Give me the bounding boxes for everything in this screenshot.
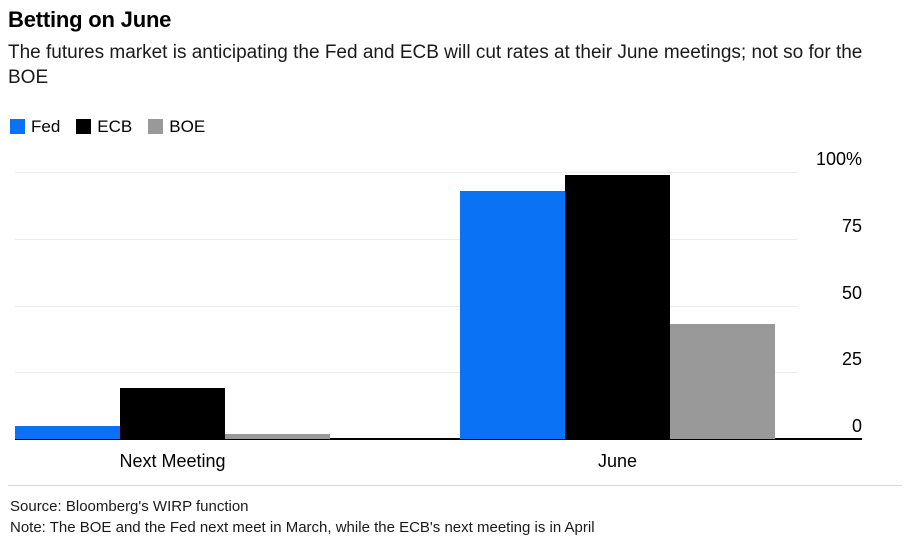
bar-ecb-june[interactable] <box>565 175 670 439</box>
x-axis-tick-label: June <box>460 450 775 472</box>
chart-footer: Source: Bloomberg's WIRP function Note: … <box>10 496 890 538</box>
x-axis-tick-label: Next Meeting <box>15 450 330 472</box>
bar-groups <box>15 172 797 439</box>
y-axis-tick-label: 25 <box>842 350 862 368</box>
legend-item-fed[interactable]: Fed <box>10 118 60 135</box>
y-axis-tick-label: 50 <box>842 284 862 302</box>
chart-legend: FedECBBOE <box>10 118 205 135</box>
chart-subtitle: The futures market is anticipating the F… <box>8 40 868 90</box>
plot-area <box>15 172 797 439</box>
y-axis-tick-label: 75 <box>842 217 862 235</box>
legend-item-ecb[interactable]: ECB <box>76 118 132 135</box>
footer-divider <box>8 485 902 486</box>
bar-fed-june[interactable] <box>460 191 565 439</box>
bar-fed-next-meeting[interactable] <box>15 426 120 439</box>
y-axis-tick-label: 0 <box>852 417 862 435</box>
legend-swatch-icon <box>10 119 25 134</box>
bar-ecb-next-meeting[interactable] <box>120 388 225 439</box>
legend-swatch-icon <box>76 119 91 134</box>
legend-label: BOE <box>169 118 205 135</box>
bar-boe-june[interactable] <box>670 324 775 439</box>
bar-group-june <box>460 172 775 439</box>
legend-label: ECB <box>97 118 132 135</box>
footer-source: Source: Bloomberg's WIRP function <box>10 496 890 517</box>
bar-boe-next-meeting[interactable] <box>225 434 330 439</box>
legend-label: Fed <box>31 118 60 135</box>
chart-title: Betting on June <box>8 6 902 34</box>
x-axis: Next MeetingJune <box>15 450 797 476</box>
legend-swatch-icon <box>148 119 163 134</box>
y-axis: 0255075100% <box>800 140 862 450</box>
bar-group-next-meeting <box>15 172 330 439</box>
legend-item-boe[interactable]: BOE <box>148 118 205 135</box>
chart-header: Betting on June The futures market is an… <box>8 6 902 90</box>
footer-note: Note: The BOE and the Fed next meet in M… <box>10 517 890 538</box>
y-axis-tick-label: 100% <box>816 150 862 168</box>
chart-page: Betting on June The futures market is an… <box>0 0 910 558</box>
